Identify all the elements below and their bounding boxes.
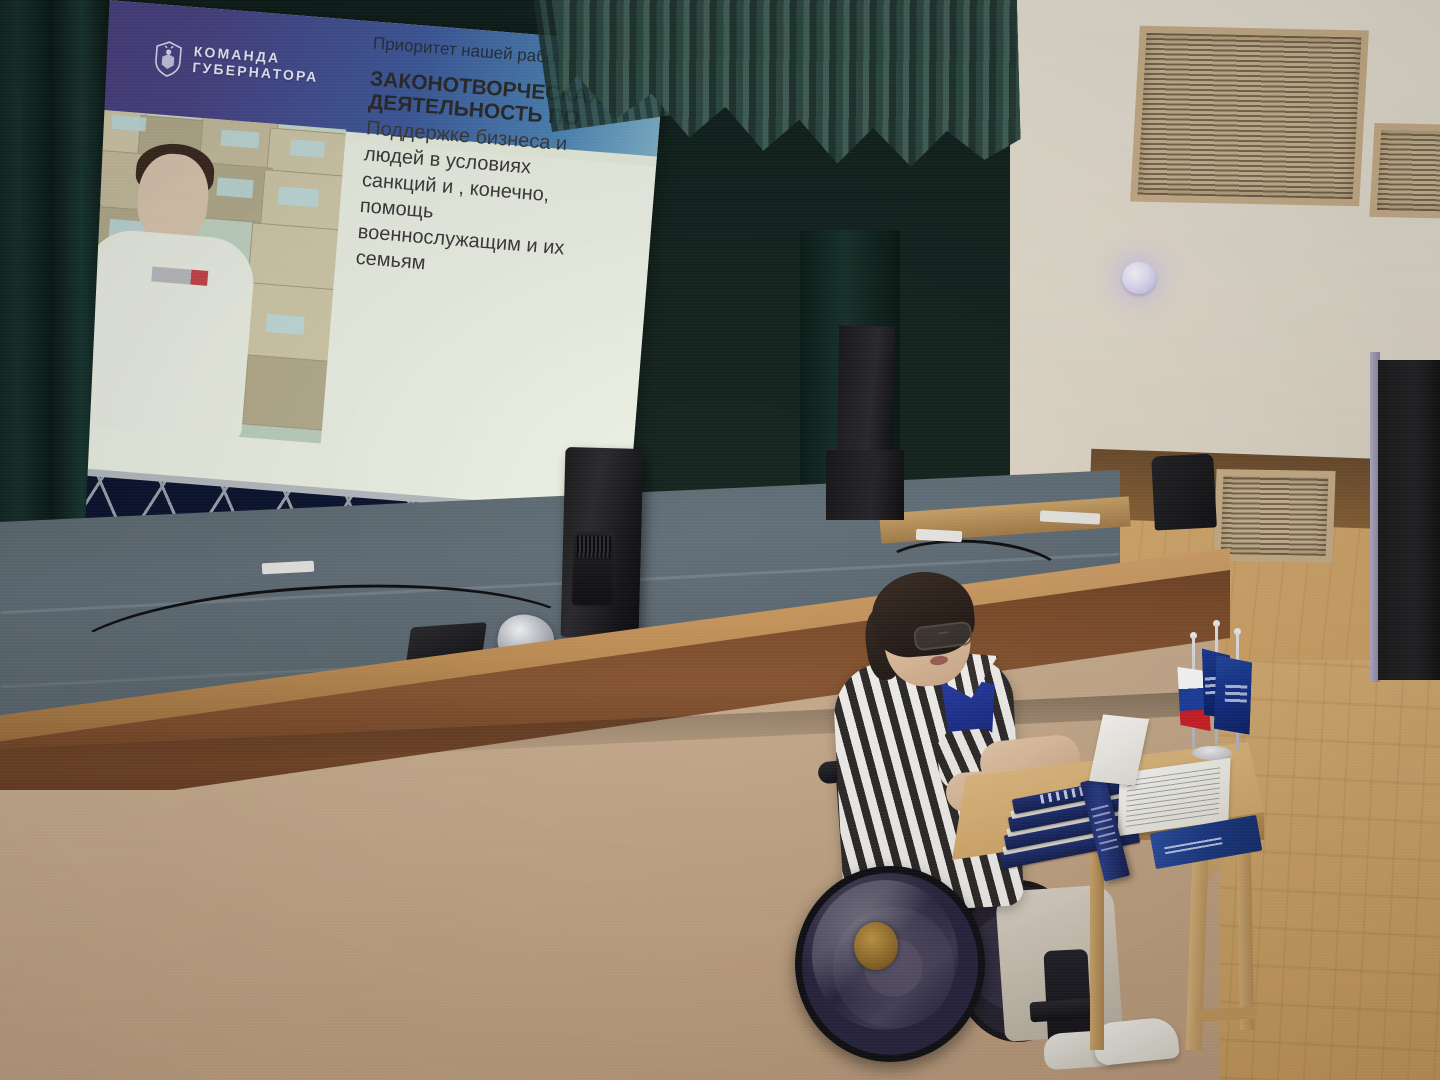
cable-connector-right [916, 529, 963, 542]
pa-speaker-tall [561, 447, 644, 639]
slide-person-tshirt [73, 227, 256, 440]
governor-team-block: КОМАНДА ГУБЕРНАТОРА [152, 40, 321, 89]
speaker-cabinet [837, 326, 895, 452]
curtained-alcove [1378, 360, 1440, 680]
wheelchair-wheel-hub [854, 922, 898, 970]
coat-of-arms-icon [152, 40, 185, 78]
stage-monitor-right [1151, 453, 1217, 530]
acoustic-grille-small [1369, 123, 1440, 219]
governor-team-label: КОМАНДА ГУБЕРНАТОРА [192, 43, 321, 85]
subwoofer [826, 450, 904, 520]
flag-united-russia-2 [1214, 655, 1253, 734]
wall-sconce-light [1122, 262, 1156, 294]
acoustic-grille-large [1130, 26, 1369, 207]
flag-stand [1192, 746, 1232, 760]
photo-scene: ЕДИНАЯ РОССИЯ КОМАНДА ГУБЕРНАТОРА [0, 0, 1440, 1080]
acoustic-grille-low [1213, 469, 1335, 563]
slide-body-text: Поддержке бизнеса и людей в условиях сан… [355, 115, 647, 293]
person-shoe-right [1092, 1016, 1180, 1067]
